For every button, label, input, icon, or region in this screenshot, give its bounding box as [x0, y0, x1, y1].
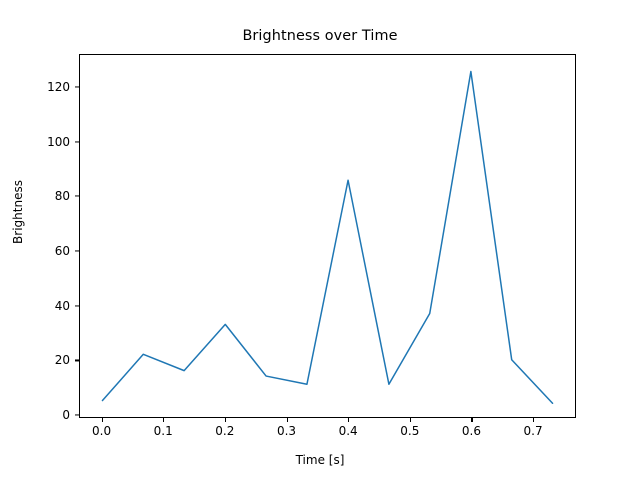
x-tick-mark [225, 418, 226, 422]
x-tick-label: 0.4 [318, 424, 378, 438]
y-tick-label: 120 [0, 80, 70, 94]
line-series-svg [80, 55, 575, 417]
brightness-line [102, 71, 552, 403]
x-tick-mark [533, 418, 534, 422]
y-tick-label: 0 [0, 408, 70, 422]
x-tick-mark [102, 418, 103, 422]
y-tick-label: 100 [0, 135, 70, 149]
x-tick-mark [163, 418, 164, 422]
x-tick-label: 0.1 [133, 424, 193, 438]
x-tick-mark [471, 418, 472, 422]
y-tick-label: 20 [0, 353, 70, 367]
x-tick-mark [287, 418, 288, 422]
matplotlib-figure: Brightness over Time Brightness Time [s]… [0, 0, 640, 480]
y-tick-label: 60 [0, 244, 70, 258]
x-tick-label: 0.7 [503, 424, 563, 438]
y-tick-label: 80 [0, 189, 70, 203]
x-tick-mark [410, 418, 411, 422]
x-tick-label: 0.5 [380, 424, 440, 438]
y-tick-label: 40 [0, 299, 70, 313]
plot-area [79, 54, 576, 418]
x-tick-mark [348, 418, 349, 422]
x-tick-label: 0.6 [441, 424, 501, 438]
chart-title: Brightness over Time [0, 28, 640, 44]
x-tick-label: 0.2 [195, 424, 255, 438]
x-tick-label: 0.3 [257, 424, 317, 438]
x-tick-label: 0.0 [72, 424, 132, 438]
y-axis-label: Brightness [11, 132, 25, 292]
x-axis-label: Time [s] [0, 453, 640, 467]
